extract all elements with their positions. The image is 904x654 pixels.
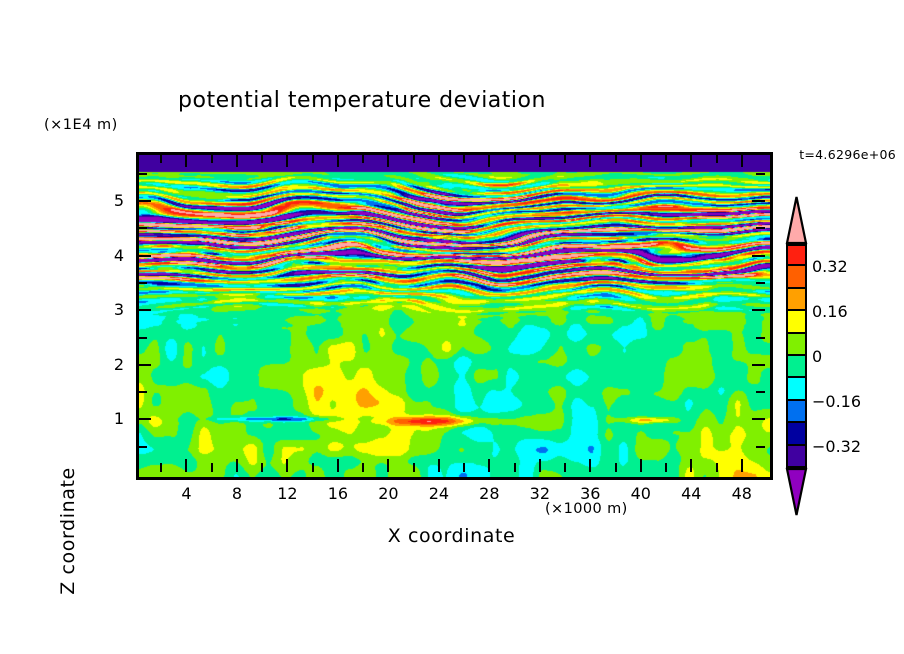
colorbar-under-arrow — [786, 468, 807, 516]
x-tick-40 — [640, 154, 642, 167]
x-tick-28 — [488, 459, 490, 472]
colorbar-band-4 — [786, 311, 807, 333]
y-tick-3.5 — [756, 282, 765, 284]
x-tick-14 — [312, 154, 314, 163]
x-tick-label-28: 28 — [465, 484, 513, 503]
y-tick-label-1: 1 — [84, 409, 124, 428]
x-tick-14 — [312, 463, 314, 472]
x-tick-46 — [716, 463, 718, 472]
x-tick-4 — [185, 154, 187, 167]
x-tick-label-20: 20 — [364, 484, 412, 503]
colorbar-label-3: −0.16 — [812, 392, 861, 411]
x-tick-6 — [211, 154, 213, 163]
y-tick-3 — [752, 309, 765, 311]
x-tick-36 — [589, 154, 591, 167]
x-tick-22 — [413, 154, 415, 163]
x-tick-38 — [615, 463, 617, 472]
colorbar-band-3 — [786, 289, 807, 311]
colorbar-label-2: 0 — [812, 347, 822, 366]
x-tick-12 — [286, 154, 288, 167]
x-tick-18 — [362, 463, 364, 472]
x-tick-28 — [488, 154, 490, 167]
x-tick-48 — [741, 459, 743, 472]
x-tick-label-8: 8 — [213, 484, 261, 503]
colorbar-band-7 — [786, 378, 807, 400]
y-tick-2 — [138, 364, 151, 366]
y-tick-2 — [752, 364, 765, 366]
x-tick-6 — [211, 463, 213, 472]
y-tick-1.5 — [138, 391, 147, 393]
y-tick-1 — [138, 418, 151, 420]
x-tick-18 — [362, 154, 364, 163]
y-tick-1 — [752, 418, 765, 420]
colorbar-label-1: 0.16 — [812, 302, 848, 321]
x-tick-12 — [286, 459, 288, 472]
x-tick-44 — [690, 459, 692, 472]
x-tick-20 — [387, 459, 389, 472]
colorbar-band-5 — [786, 334, 807, 356]
y-tick-5.5 — [756, 173, 765, 175]
x-tick-40 — [640, 459, 642, 472]
y-tick-5.5 — [138, 173, 147, 175]
x-tick-42 — [665, 154, 667, 163]
colorbar-over-arrow — [786, 196, 807, 244]
x-unit-label: (×1000 m) — [545, 501, 628, 517]
x-tick-22 — [413, 463, 415, 472]
x-tick-24 — [438, 154, 440, 167]
colorbar-band-9 — [786, 423, 807, 445]
y-tick-label-5: 5 — [84, 191, 124, 210]
x-tick-36 — [589, 459, 591, 472]
y-tick-label-3: 3 — [84, 300, 124, 319]
x-tick-26 — [463, 463, 465, 472]
x-tick-4 — [185, 459, 187, 472]
y-tick-0.5 — [138, 446, 147, 448]
y-tick-2.5 — [756, 337, 765, 339]
x-tick-10 — [261, 463, 263, 472]
x-tick-32 — [539, 154, 541, 167]
x-tick-34 — [564, 154, 566, 163]
x-tick-label-12: 12 — [263, 484, 311, 503]
x-tick-label-44: 44 — [667, 484, 715, 503]
y-axis-title-wrap: Z coordinate — [0, 220, 188, 260]
x-tick-2 — [160, 154, 162, 163]
colorbar-label-4: −0.32 — [812, 437, 861, 456]
colorbar-band-6 — [786, 356, 807, 378]
x-tick-16 — [337, 154, 339, 167]
y-tick-5 — [752, 200, 765, 202]
x-tick-48 — [741, 154, 743, 167]
x-tick-label-48: 48 — [718, 484, 766, 503]
x-tick-label-16: 16 — [314, 484, 362, 503]
x-tick-34 — [564, 463, 566, 472]
colorbar-band-10 — [786, 446, 807, 468]
x-tick-10 — [261, 154, 263, 163]
y-tick-5 — [138, 200, 151, 202]
y-tick-4 — [752, 255, 765, 257]
contour-field-canvas — [139, 155, 770, 477]
y-tick-label-2: 2 — [84, 355, 124, 374]
y-axis-title: Z coordinate — [57, 431, 79, 631]
x-tick-44 — [690, 154, 692, 167]
x-tick-label-24: 24 — [415, 484, 463, 503]
colorbar-band-8 — [786, 401, 807, 423]
y-tick-3 — [138, 309, 151, 311]
x-tick-32 — [539, 459, 541, 472]
colorbar-band-1 — [786, 244, 807, 266]
x-tick-30 — [514, 463, 516, 472]
x-tick-24 — [438, 459, 440, 472]
x-tick-20 — [387, 154, 389, 167]
x-tick-16 — [337, 459, 339, 472]
page-title: potential temperature deviation — [0, 88, 814, 113]
x-tick-46 — [716, 154, 718, 163]
x-tick-2 — [160, 463, 162, 472]
y-tick-1.5 — [756, 391, 765, 393]
x-tick-42 — [665, 463, 667, 472]
x-axis-title: X coordinate — [136, 525, 767, 547]
colorbar-label-0: 0.32 — [812, 257, 848, 276]
x-tick-label-4: 4 — [162, 484, 210, 503]
time-annotation: t=4.6296e+06 — [799, 147, 896, 162]
z-unit-label: (×1E4 m) — [44, 117, 118, 133]
y-tick-4.5 — [756, 227, 765, 229]
x-tick-26 — [463, 154, 465, 163]
y-tick-2.5 — [138, 337, 147, 339]
y-tick-3.5 — [138, 282, 147, 284]
colorbar-band-2 — [786, 266, 807, 288]
contour-plot — [136, 152, 773, 480]
x-tick-8 — [236, 459, 238, 472]
y-tick-0.5 — [756, 446, 765, 448]
x-tick-38 — [615, 154, 617, 163]
x-tick-8 — [236, 154, 238, 167]
x-tick-30 — [514, 154, 516, 163]
